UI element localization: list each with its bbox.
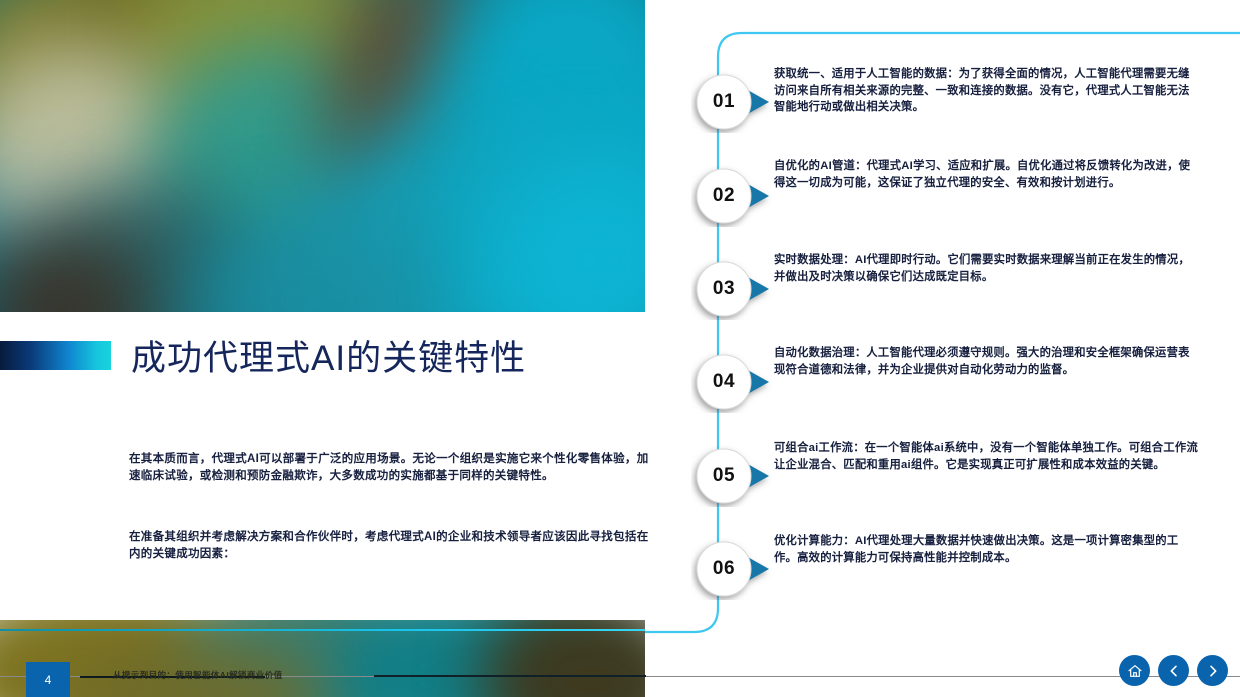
page-number-badge: 4 <box>26 662 70 697</box>
page-title: 成功代理式AI的关键特性 <box>131 330 526 381</box>
timeline-step-text: 获取统一、适用于人工智能的数据：为了获得全面的情况，人工智能代理需要无缝访问来自… <box>774 66 1201 116</box>
chevron-left-icon <box>1166 663 1182 679</box>
footer-horizontal-rule-dark <box>374 675 646 677</box>
timeline-step-number: 02 <box>703 175 745 217</box>
hero-background-image <box>0 0 645 312</box>
home-button[interactable] <box>1119 655 1150 686</box>
timeline-step-text: 可组合ai工作流：在一个智能体ai系统中，没有一个智能体单独工作。可组合工作流让… <box>774 440 1201 473</box>
footer-deck-title: 从提示到目的：使用智能体AI解锁商业价值 <box>113 669 283 681</box>
previous-button[interactable] <box>1158 655 1189 686</box>
timeline-step-text: 实时数据处理：AI代理即时行动。它们需要实时数据来理解当前正在发生的情况，并做出… <box>774 252 1201 285</box>
left-panel: 成功代理式AI的关键特性 在其本质而言，代理式AI可以部署于广泛的应用场景。无论… <box>0 0 645 697</box>
timeline-step-number: 05 <box>703 455 745 497</box>
body-paragraph-1: 在其本质而言，代理式AI可以部署于广泛的应用场景。无论一个组织是实施它来个性化零… <box>129 451 656 485</box>
timeline-step-badge: 01 <box>691 71 787 133</box>
title-accent-bar <box>0 341 111 370</box>
chevron-right-icon <box>1205 663 1221 679</box>
timeline-panel: 01获取统一、适用于人工智能的数据：为了获得全面的情况，人工智能代理需要无缝访问… <box>645 0 1240 697</box>
timeline-step-number: 06 <box>703 548 745 590</box>
body-paragraph-2: 在准备其组织并考虑解决方案和合作伙伴时，考虑代理式AI的企业和技术领导者应该因此… <box>129 529 656 563</box>
timeline-step-text: 自动化数据治理：人工智能代理必须遵守规则。强大的治理和安全框架确保运营表现符合道… <box>774 345 1201 378</box>
timeline-step-number: 01 <box>703 81 745 123</box>
footer-top-accent-line <box>0 629 645 631</box>
timeline-step-badge: 02 <box>691 165 787 227</box>
home-icon <box>1127 663 1143 679</box>
timeline-step-badge: 04 <box>691 351 787 413</box>
timeline-step-text: 优化计算能力：AI代理处理大量数据并快速做出决策。这是一项计算密集型的工作。高效… <box>774 533 1201 566</box>
timeline-step-badge: 03 <box>691 258 787 320</box>
footer-background-band <box>0 620 645 697</box>
timeline-step-number: 03 <box>703 268 745 310</box>
timeline-step-badge: 05 <box>691 445 787 507</box>
timeline-step-badge: 06 <box>691 538 787 600</box>
next-button[interactable] <box>1197 655 1228 686</box>
navigation-buttons <box>1119 655 1228 686</box>
title-row: 成功代理式AI的关键特性 <box>0 338 645 380</box>
timeline-step-number: 04 <box>703 361 745 403</box>
timeline-step-text: 自优化的AI管道：代理式AI学习、适应和扩展。自优化通过将反馈转化为改进，使得这… <box>774 158 1201 191</box>
